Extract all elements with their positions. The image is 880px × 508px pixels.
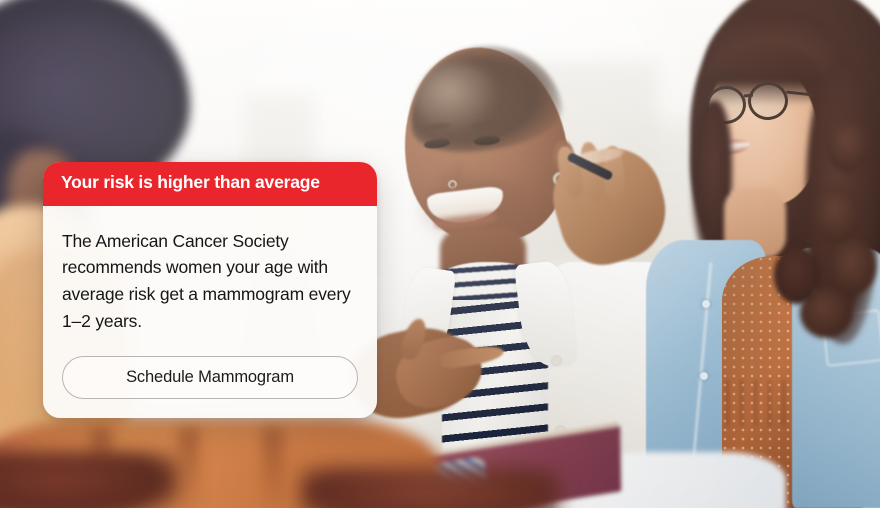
- schedule-mammogram-button[interactable]: Schedule Mammogram: [62, 356, 358, 399]
- right-woman-curl-a: [826, 120, 870, 172]
- recommendation-text: The American Cancer Society recommends w…: [62, 228, 358, 334]
- right-woman-hair-front: [774, 246, 820, 304]
- risk-alert-card: Your risk is higher than average The Ame…: [43, 162, 377, 418]
- right-woman-curl-b: [812, 186, 862, 244]
- orange-garment-fold-3: [262, 428, 284, 508]
- center-woman-jacket-button-1: [552, 356, 561, 365]
- right-woman-denim-button-2: [700, 372, 708, 380]
- foreground-arm-center: [300, 468, 560, 508]
- screenshot-stage: Your risk is higher than average The Ame…: [0, 0, 880, 508]
- card-body: The American Cancer Society recommends w…: [43, 206, 377, 418]
- right-woman-curl-c: [830, 240, 876, 294]
- card-header: Your risk is higher than average: [43, 162, 377, 206]
- foreground-arm-left: [0, 452, 180, 508]
- orange-garment-fold-2: [178, 428, 200, 508]
- card-header-title: Your risk is higher than average: [61, 172, 359, 194]
- right-woman-denim-button-1: [702, 300, 710, 308]
